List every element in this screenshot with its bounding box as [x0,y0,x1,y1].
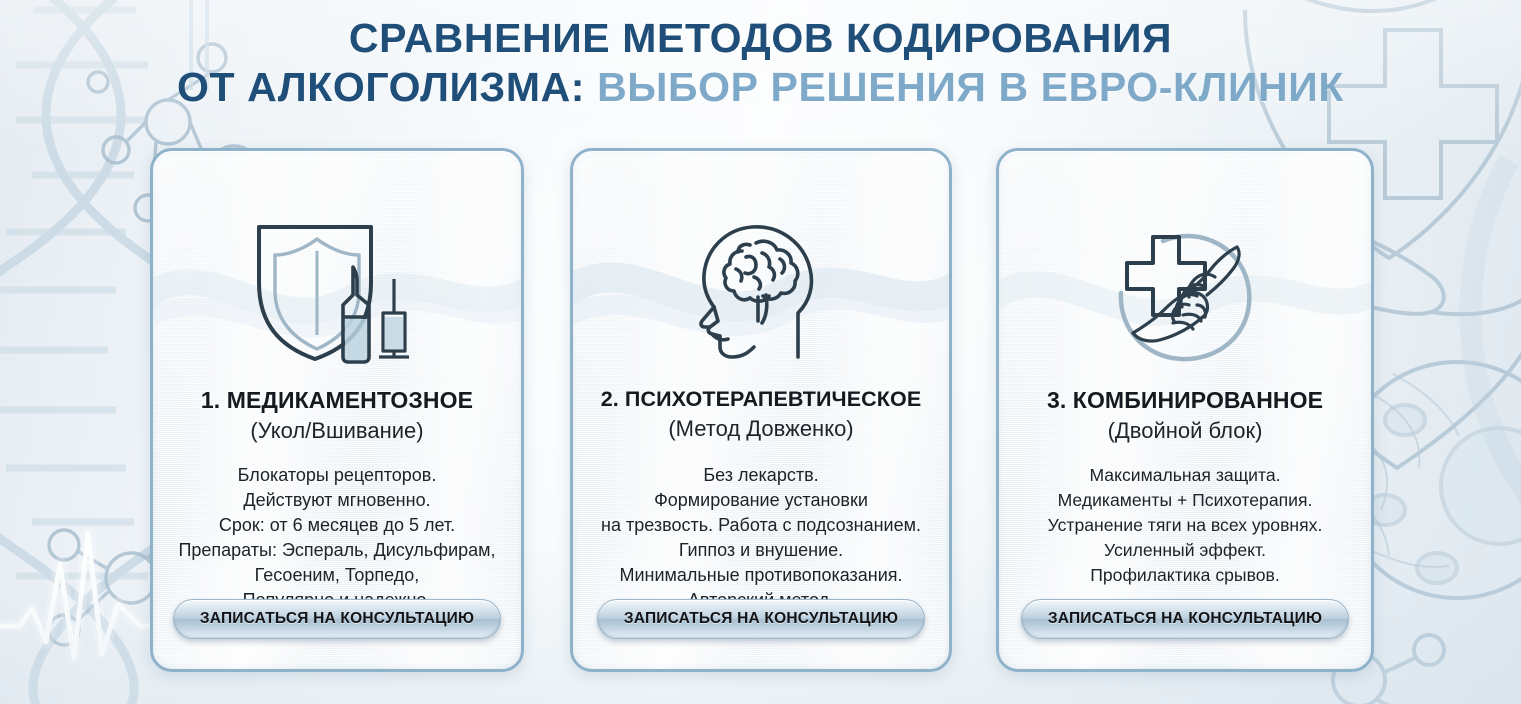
cross-helping-hands-icon [1105,219,1265,365]
card-description-line: Усиленный эффект. [1007,538,1363,563]
book-consultation-button[interactable]: ЗАПИСАТЬСЯ НА КОНСУЛЬТАЦИЮ [597,599,925,639]
page-title: СРАВНЕНИЕ МЕТОДОВ КОДИРОВАНИЯ ОТ АЛКОГОЛ… [0,16,1521,111]
card-description-line: Минимальные противопоказания. [581,563,941,588]
card-subtitle: (Метод Довженко) [579,416,943,442]
card-description-line: Срок: от 6 месяцев до 5 лет. [161,513,513,538]
card-cta-wrap: ЗАПИСАТЬСЯ НА КОНСУЛЬТАЦИЮ [573,599,949,639]
card-heading-group: 3. КОМБИНИРОВАННОЕ (Двойной блок) [999,387,1371,445]
card-icon-slot [153,207,521,377]
card-description-line: Гиппоз и внушение. [581,538,941,563]
card-description: Блокаторы рецепторов. Действуют мгновенн… [153,463,521,613]
card-title: 1. МЕДИКАМЕНТОЗНОЕ [159,387,515,414]
shield-ampoule-syringe-icon [253,217,421,367]
card-heading-group: 2. ПСИХОТЕРАПЕВТИЧЕСКОЕ (Метод Довженко) [573,387,949,443]
card-icon-slot [999,207,1371,377]
card-description-line: на трезвость. Работа с подсознанием. [581,513,941,538]
method-card-medicamentous[interactable]: 1. МЕДИКАМЕНТОЗНОЕ (Укол/Вшивание) Блока… [150,148,524,672]
head-brain-icon [686,217,836,367]
card-cta-wrap: ЗАПИСАТЬСЯ НА КОНСУЛЬТАЦИЮ [999,599,1371,639]
title-line-primary: СРАВНЕНИЕ МЕТОДОВ КОДИРОВАНИЯ [0,16,1521,62]
card-description-line: Профилактика срывов. [1007,563,1363,588]
card-description: Без лекарств. Формирование установки на … [573,463,949,613]
card-description-line: Максимальная защита. [1007,463,1363,488]
card-icon-slot [573,207,949,377]
card-description-line: Без лекарств. [581,463,941,488]
card-description-line: Препараты: Эспераль, Дисульфирам, [161,538,513,563]
book-consultation-button[interactable]: ЗАПИСАТЬСЯ НА КОНСУЛЬТАЦИЮ [173,599,501,639]
card-description-line: Блокаторы рецепторов. [161,463,513,488]
card-subtitle: (Двойной блок) [1005,418,1365,444]
card-description-line: Медикаменты + Психотерапия. [1007,488,1363,513]
card-cta-wrap: ЗАПИСАТЬСЯ НА КОНСУЛЬТАЦИЮ [153,599,521,639]
method-card-psychotherapeutic[interactable]: 2. ПСИХОТЕРАПЕВТИЧЕСКОЕ (Метод Довженко)… [570,148,952,672]
card-description-line: Формирование установки [581,488,941,513]
banner-stage: СРАВНЕНИЕ МЕТОДОВ КОДИРОВАНИЯ ОТ АЛКОГОЛ… [0,0,1521,704]
card-description: Максимальная защита. Медикаменты + Психо… [999,463,1371,588]
card-title: 2. ПСИХОТЕРАПЕВТИЧЕСКОЕ [579,387,943,412]
title-line-secondary: ОТ АЛКОГОЛИЗМА: ВЫБОР РЕШЕНИЯ В ЕВРО-КЛИ… [0,65,1521,111]
card-description-line: Действуют мгновенно. [161,488,513,513]
card-description-line: Устранение тяги на всех уровнях. [1007,513,1363,538]
card-description-line: Гесоеним, Торпедо, [161,563,513,588]
card-heading-group: 1. МЕДИКАМЕНТОЗНОЕ (Укол/Вшивание) [153,387,521,445]
title-segment-light: ВЫБОР РЕШЕНИЯ В ЕВРО-КЛИНИК [597,64,1344,110]
method-card-combined[interactable]: 3. КОМБИНИРОВАННОЕ (Двойной блок) Максим… [996,148,1374,672]
card-subtitle: (Укол/Вшивание) [159,418,515,444]
title-segment-dark: ОТ АЛКОГОЛИЗМА: [177,64,585,110]
book-consultation-button[interactable]: ЗАПИСАТЬСЯ НА КОНСУЛЬТАЦИЮ [1021,599,1349,639]
method-cards-container: 1. МЕДИКАМЕНТОЗНОЕ (Укол/Вшивание) Блока… [0,148,1521,674]
card-title: 3. КОМБИНИРОВАННОЕ [1005,387,1365,414]
